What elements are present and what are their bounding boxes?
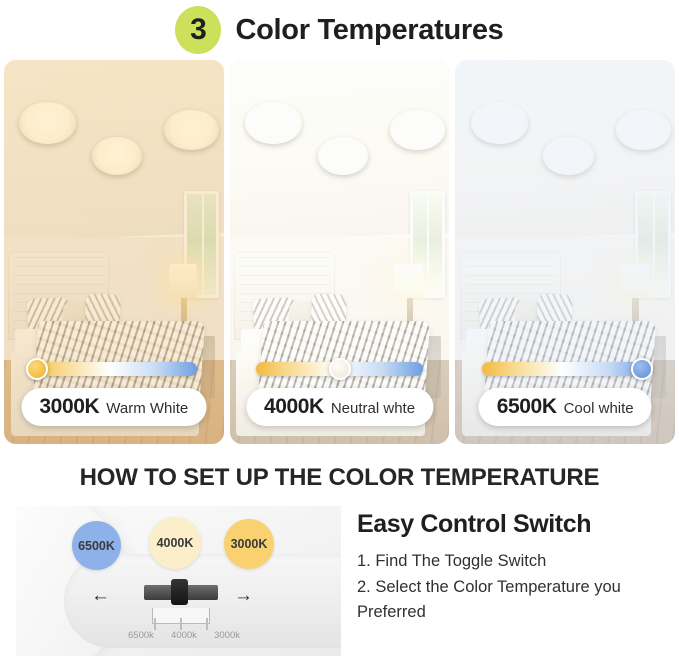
kelvin-description: Cool white xyxy=(564,400,634,417)
color-temperature-panels: 3000K Warm White xyxy=(0,60,679,444)
temperature-label-warm: 3000K Warm White xyxy=(21,388,206,426)
ceiling-light-icon xyxy=(543,137,594,175)
switch-label-3000k: 3000k xyxy=(214,630,240,641)
instruction-step-2: 2. Select the Color Temperature you xyxy=(357,575,663,601)
slider-knob[interactable] xyxy=(26,358,48,380)
slider-knob[interactable] xyxy=(631,358,653,380)
count-badge: 3 xyxy=(175,6,221,54)
kelvin-description: Warm White xyxy=(106,400,188,417)
instruction-step-2-continued: Preferred xyxy=(357,600,663,626)
arrow-left-icon: ← xyxy=(91,586,110,605)
ceiling-light-icon xyxy=(318,137,369,175)
temperature-slider-neutral[interactable] xyxy=(256,362,423,376)
kelvin-circle-3000k: 3000K xyxy=(224,519,274,569)
bedroom-scene-cool xyxy=(455,60,675,444)
temperature-slider-warm[interactable] xyxy=(30,362,197,376)
ceiling-light-icon xyxy=(390,110,445,150)
instructions-title: Easy Control Switch xyxy=(357,510,663,539)
page-header: 3 Color Temperatures xyxy=(0,0,679,60)
temperature-label-neutral: 4000K Neutral whte xyxy=(246,388,433,426)
instructions-block: Easy Control Switch 1. Find The Toggle S… xyxy=(357,506,663,626)
switch-diagram: 6500K 4000K 3000K ← → 6500k 4000k 3000k xyxy=(16,506,341,656)
panel-neutral-4000k[interactable]: 4000K Neutral whte xyxy=(230,60,450,444)
toggle-switch[interactable] xyxy=(136,579,226,605)
kelvin-circle-4000k: 4000K xyxy=(149,517,201,569)
bedroom-scene-warm xyxy=(4,60,224,444)
kelvin-value: 3000K xyxy=(39,395,99,419)
arrow-right-icon: → xyxy=(234,586,253,605)
instruction-step-1: 1. Find The Toggle Switch xyxy=(357,549,663,575)
slider-knob[interactable] xyxy=(329,358,351,380)
howto-section: 6500K 4000K 3000K ← → 6500k 4000k 3000k … xyxy=(0,506,679,656)
howto-title: HOW TO SET UP THE COLOR TEMPERATURE xyxy=(0,464,679,492)
switch-position-labels: 6500k 4000k 3000k xyxy=(128,630,240,641)
toggle-lever[interactable] xyxy=(171,579,188,605)
panel-cool-6500k[interactable]: 6500K Cool white xyxy=(455,60,675,444)
ceiling-light-icon xyxy=(471,102,528,144)
table-lamp-shade xyxy=(620,264,649,299)
page-title: Color Temperatures xyxy=(235,14,503,47)
temperature-label-cool: 6500K Cool white xyxy=(479,388,652,426)
table-lamp-shade xyxy=(169,264,198,299)
kelvin-value: 6500K xyxy=(497,395,557,419)
temperature-slider-cool[interactable] xyxy=(482,362,649,376)
table-lamp-shade xyxy=(394,264,423,299)
kelvin-description: Neutral whte xyxy=(331,400,415,417)
kelvin-circle-6500k: 6500K xyxy=(72,521,121,570)
ceiling-light-icon xyxy=(616,110,671,150)
switch-label-4000k: 4000k xyxy=(171,630,197,641)
panel-warm-3000k[interactable]: 3000K Warm White xyxy=(4,60,224,444)
kelvin-value: 4000K xyxy=(264,395,324,419)
bedroom-scene-neutral xyxy=(230,60,450,444)
switch-label-6500k: 6500k xyxy=(128,630,154,641)
